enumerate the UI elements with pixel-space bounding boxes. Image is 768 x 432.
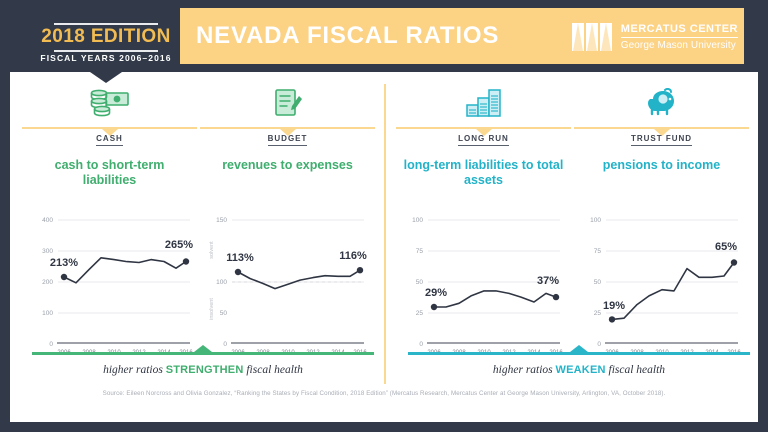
source-citation: Source: Eileen Norcross and Olivia Gonza… <box>10 390 758 397</box>
badge-subtitle: FISCAL YEARS 2006–2016 <box>32 53 180 63</box>
axis-note-insolvent: insolvent <box>209 298 215 320</box>
piggy-bank-icon <box>574 86 749 120</box>
svg-text:75: 75 <box>416 248 424 255</box>
content-card: CASH cash to short-term liabilities 400 … <box>10 72 758 422</box>
svg-text:75: 75 <box>594 248 602 255</box>
footer-emphasis: STRENGTHEN <box>166 364 244 376</box>
panel-title: cash to short-term liabilities <box>28 158 191 188</box>
footer-text-left: higher ratios STRENGTHEN fiscal health <box>32 364 374 376</box>
svg-text:25: 25 <box>416 310 424 317</box>
page-title: NEVADA FISCAL RATIOS <box>196 22 499 50</box>
footer-suffix: fiscal health <box>606 364 665 376</box>
panel-kicker: TRUST FUND <box>574 134 749 143</box>
footer-text-right: higher ratios WEAKEN fiscal health <box>408 364 750 376</box>
building-chart-icon <box>396 86 571 120</box>
svg-text:100: 100 <box>42 310 53 317</box>
svg-text:50: 50 <box>594 279 602 286</box>
cash-stack-icon <box>22 86 197 120</box>
svg-text:100: 100 <box>412 217 423 224</box>
footer-weaken: higher ratios WEAKEN fiscal health <box>408 344 750 384</box>
budget-document-icon <box>200 86 375 120</box>
start-value-label: 113% <box>226 252 254 264</box>
start-value-label: 213% <box>50 257 78 269</box>
svg-text:25: 25 <box>594 310 602 317</box>
badge-title: 2018 EDITION <box>32 24 180 50</box>
svg-text:50: 50 <box>220 310 228 317</box>
header: 2018 EDITION FISCAL YEARS 2006–2016 NEVA… <box>0 0 768 72</box>
start-value-label: 29% <box>425 287 447 299</box>
svg-text:400: 400 <box>42 217 53 224</box>
footer-prefix: higher ratios <box>103 364 166 376</box>
svg-text:300: 300 <box>42 248 53 255</box>
end-value-label: 116% <box>339 250 367 262</box>
center-divider <box>384 84 386 384</box>
panel-rule <box>574 127 749 129</box>
mercatus-logo: MERCATUS CENTER George Mason University <box>572 22 738 52</box>
mercatus-logo-icon <box>572 23 614 51</box>
panel-title: long-term liabilities to total assets <box>402 158 565 188</box>
end-value-label: 65% <box>715 241 737 253</box>
logo-divider <box>621 37 738 38</box>
axis-note-solvent: solvent <box>209 241 215 259</box>
start-value-label: 19% <box>603 300 625 312</box>
footer-prefix: higher ratios <box>493 364 556 376</box>
logo-name: MERCATUS CENTER <box>621 23 738 35</box>
badge-rule-bottom <box>54 50 158 52</box>
panel-title: pensions to income <box>580 158 743 173</box>
logo-wordmark: MERCATUS CENTER George Mason University <box>621 23 738 51</box>
svg-text:150: 150 <box>216 217 227 224</box>
footer-arrow-right <box>408 352 750 355</box>
panel-kicker: BUDGET <box>200 134 375 143</box>
panel-title: revenues to expenses <box>206 158 369 173</box>
svg-text:100: 100 <box>216 279 227 286</box>
infographic-page: 2018 EDITION FISCAL YEARS 2006–2016 NEVA… <box>0 0 768 432</box>
edition-badge: 2018 EDITION FISCAL YEARS 2006–2016 <box>32 8 180 72</box>
footer-suffix: fiscal health <box>243 364 302 376</box>
panel-rule <box>200 127 375 129</box>
svg-text:100: 100 <box>590 217 601 224</box>
panel-rule <box>396 127 571 129</box>
panel-kicker: CASH <box>22 134 197 143</box>
end-value-label: 37% <box>537 275 559 287</box>
svg-text:50: 50 <box>416 279 424 286</box>
footer-strengthen: higher ratios STRENGTHEN fiscal health <box>32 344 374 384</box>
panel-rule <box>22 127 197 129</box>
logo-subname: George Mason University <box>621 40 738 51</box>
svg-text:200: 200 <box>42 279 53 286</box>
footer-arrow-left <box>32 352 374 355</box>
end-value-label: 265% <box>165 239 193 251</box>
footer-emphasis: WEAKEN <box>556 364 606 376</box>
panel-kicker: LONG RUN <box>396 134 571 143</box>
